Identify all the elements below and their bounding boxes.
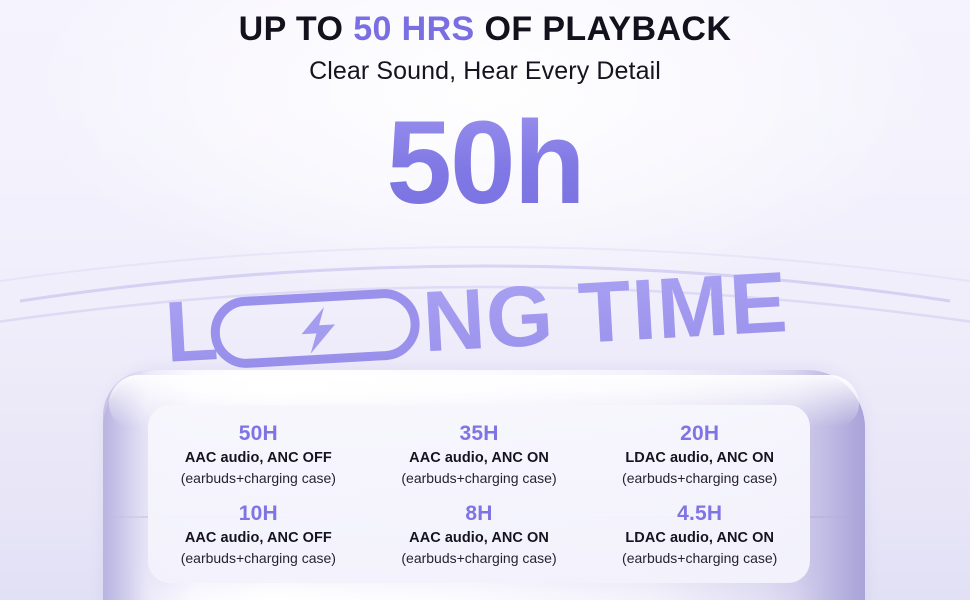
spec-hours: 10H: [154, 500, 363, 528]
wordmark-text: NG TIME: [420, 272, 790, 368]
spec-hours: 50H: [154, 420, 363, 448]
page-subtitle: Clear Sound, Hear Every Detail: [0, 54, 970, 88]
spec-mode: AAC audio, ANC OFF: [154, 448, 363, 468]
spec-cell-4-5h: 4.5H LDAC audio, ANC ON (earbuds+chargin…: [589, 498, 810, 570]
spec-hours: 35H: [375, 420, 584, 448]
wordmark-letter-l: L: [165, 282, 221, 368]
hero-number: 50h: [0, 104, 970, 222]
spec-hours: 20H: [595, 420, 804, 448]
spec-cell-35h: 35H AAC audio, ANC ON (earbuds+charging …: [369, 418, 590, 490]
spec-mode: LDAC audio, ANC ON: [595, 448, 804, 468]
spec-note: (earbuds+charging case): [375, 468, 584, 488]
spec-hours: 4.5H: [595, 500, 804, 528]
spec-cell-8h: 8H AAC audio, ANC ON (earbuds+charging c…: [369, 498, 590, 570]
spec-note: (earbuds+charging case): [154, 548, 363, 568]
spec-note: (earbuds+charging case): [154, 468, 363, 488]
spec-note: (earbuds+charging case): [595, 548, 804, 568]
battery-spec-card: 50H AAC audio, ANC OFF (earbuds+charging…: [148, 405, 810, 583]
spec-mode: LDAC audio, ANC ON: [595, 528, 804, 548]
battery-lightning-icon: [214, 292, 417, 365]
page-title: UP TO 50 HRS OF PLAYBACK: [0, 8, 970, 50]
headline-accent: 50 HRS: [353, 10, 474, 48]
spec-row: 10H AAC audio, ANC OFF (earbuds+charging…: [148, 498, 810, 570]
long-time-wordmark: L NG TIME: [165, 272, 805, 368]
spec-row: 50H AAC audio, ANC OFF (earbuds+charging…: [148, 418, 810, 490]
spec-note: (earbuds+charging case): [375, 548, 584, 568]
spec-cell-10h: 10H AAC audio, ANC OFF (earbuds+charging…: [148, 498, 369, 570]
case-left-shading: [103, 370, 149, 600]
spec-mode: AAC audio, ANC OFF: [154, 528, 363, 548]
spec-hours: 8H: [375, 500, 584, 528]
headline-prefix: UP TO: [239, 10, 354, 48]
spec-mode: AAC audio, ANC ON: [375, 448, 584, 468]
promo-banner: UP TO 50 HRS OF PLAYBACK Clear Sound, He…: [0, 0, 970, 600]
spec-note: (earbuds+charging case): [595, 468, 804, 488]
spec-mode: AAC audio, ANC ON: [375, 528, 584, 548]
spec-cell-20h: 20H LDAC audio, ANC ON (earbuds+charging…: [589, 418, 810, 490]
headline-suffix: OF PLAYBACK: [475, 10, 732, 48]
spec-cell-50h: 50H AAC audio, ANC OFF (earbuds+charging…: [148, 418, 369, 490]
